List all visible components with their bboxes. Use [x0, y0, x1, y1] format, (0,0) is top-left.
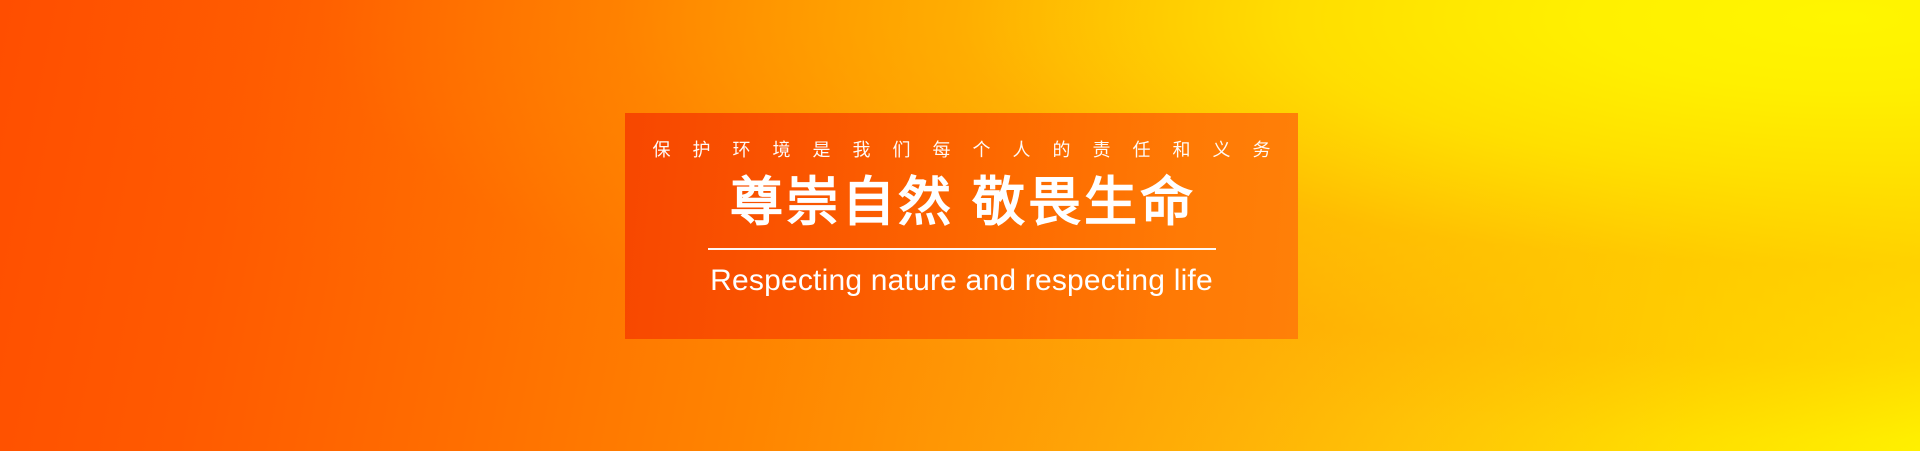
promo-banner: 保 护 环 境 是 我 们 每 个 人 的 责 任 和 义 务 尊崇自然敬畏生命… — [0, 0, 1920, 451]
headline-phrase-first: 尊崇自然 — [730, 173, 954, 232]
panel-headline: 尊崇自然敬畏生命 — [727, 176, 1196, 230]
headline-phrase-second: 敬畏生命 — [972, 173, 1196, 232]
panel-subtitle: Respecting nature and respecting life — [710, 264, 1213, 298]
message-panel: 保 护 环 境 是 我 们 每 个 人 的 责 任 和 义 务 尊崇自然敬畏生命… — [625, 113, 1298, 339]
panel-divider — [708, 248, 1216, 250]
panel-tagline: 保 护 环 境 是 我 们 每 个 人 的 责 任 和 义 务 — [644, 141, 1279, 159]
